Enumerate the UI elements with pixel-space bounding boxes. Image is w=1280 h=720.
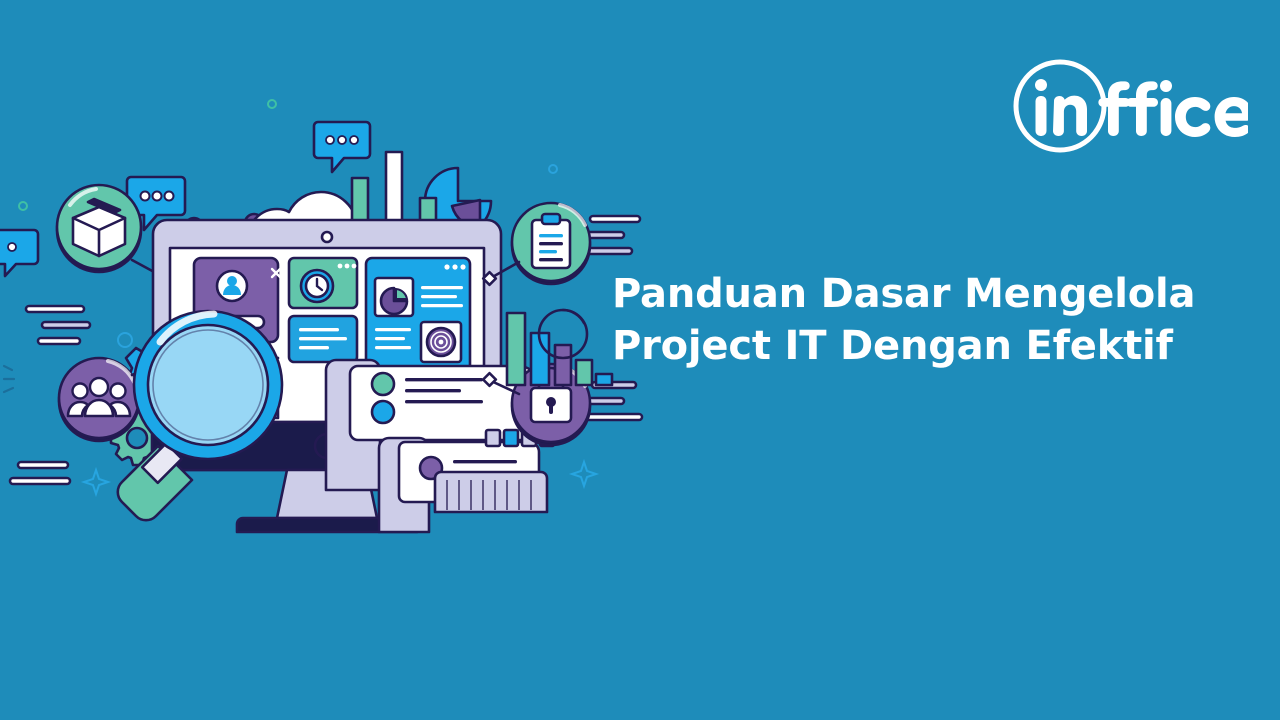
logo-wordmark (1098, 80, 1248, 137)
sparkle-icon (84, 470, 108, 494)
inoffice-logo[interactable] (1012, 56, 1248, 156)
illustration-group: .o{stroke:#241a52;stroke-width:2.6;strok… (0, 90, 660, 540)
logo-in-letters (1035, 79, 1087, 136)
chat-bubble-icon (314, 122, 370, 172)
dot-decoration (549, 165, 557, 173)
dot-decoration (268, 100, 276, 108)
badge-team (59, 358, 139, 441)
dot-decoration (118, 333, 132, 347)
badge-clipboard (512, 203, 590, 284)
speed-lines-icon (586, 382, 642, 420)
page-title-line-2: Project IT Dengan Efektif (612, 320, 1252, 372)
card-text-block (289, 316, 357, 362)
card-clock (289, 258, 357, 308)
speed-lines-icon (10, 462, 70, 484)
speed-lines-icon (26, 306, 90, 344)
chat-bubble-icon (0, 230, 38, 276)
magnifier-icon (118, 311, 282, 520)
burst-icon (4, 366, 14, 392)
page-title: Panduan Dasar Mengelola Project IT Denga… (612, 268, 1252, 372)
keyboard-icon (435, 472, 547, 512)
speed-lines-icon (584, 216, 640, 254)
bar-chart-icon (507, 313, 612, 385)
banner-canvas: .o{stroke:#241a52;stroke-width:2.6;strok… (0, 0, 1280, 720)
sparkle-icon (572, 462, 596, 486)
card-analytics (366, 258, 470, 380)
page-title-line-1: Panduan Dasar Mengelola (612, 268, 1252, 320)
dot-decoration (19, 202, 27, 210)
badge-package (57, 185, 141, 272)
